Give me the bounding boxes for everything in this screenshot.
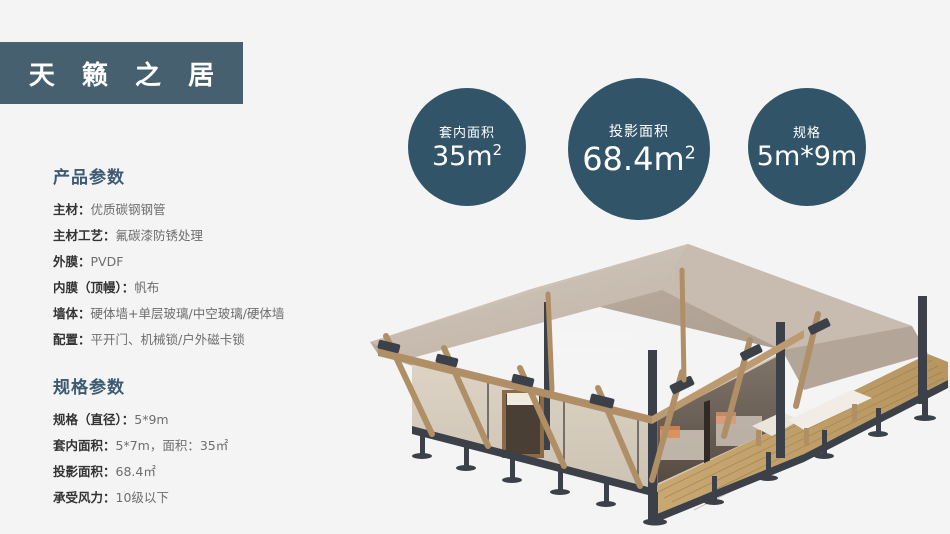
badge-specification: 规格 5m*9m — [748, 88, 866, 206]
spec-value: 优质碳钢钢管 — [91, 202, 166, 217]
spec-value: 5*7m，面积：35㎡ — [116, 438, 229, 453]
badge-label: 投影面积 — [609, 121, 669, 141]
badge-label: 套内面积 — [439, 122, 495, 141]
spec-label: 套内面积： — [53, 438, 116, 453]
spec-row: 投影面积：68.4㎡ — [53, 459, 383, 485]
spec-label: 承受风力： — [53, 490, 116, 505]
badge-interior-area: 套内面积 35m2 — [408, 88, 526, 206]
spec-value: 68.4㎡ — [116, 464, 156, 479]
spec-row: 主材工艺：氟碳漆防锈处理 — [53, 223, 383, 249]
spec-label: 投影面积： — [53, 464, 116, 479]
spec-label: 内膜（顶幔）： — [53, 280, 134, 295]
badge-label: 规格 — [793, 122, 821, 141]
spec-value: 5*9m — [134, 412, 168, 427]
spec-label: 主材工艺： — [53, 228, 116, 243]
spec-value: 硬体墙+单层玻璃/中空玻璃/硬体墙 — [91, 306, 285, 321]
spec-row: 规格（直径）：5*9m — [53, 407, 383, 433]
section-heading-product: 产品参数 — [53, 163, 383, 188]
spec-panel: 产品参数 主材：优质碳钢钢管 主材工艺：氟碳漆防锈处理 外膜：PVDF 内膜（顶… — [53, 163, 383, 511]
spec-value: 10级以下 — [116, 490, 169, 505]
spec-label: 外膜： — [53, 254, 91, 269]
slide-canvas: 天 籁 之 居 产品参数 主材：优质碳钢钢管 主材工艺：氟碳漆防锈处理 外膜：P… — [0, 0, 950, 534]
spec-label: 主材： — [53, 202, 91, 217]
spec-row: 套内面积：5*7m，面积：35㎡ — [53, 433, 383, 459]
spec-label: 规格（直径）： — [53, 412, 134, 427]
spec-value: PVDF — [91, 254, 124, 269]
title-block: 天 籁 之 居 — [0, 42, 243, 104]
page-title: 天 籁 之 居 — [20, 55, 223, 92]
spec-value: 帆布 — [134, 280, 159, 295]
spec-row: 主材：优质碳钢钢管 — [53, 197, 383, 223]
spec-row: 墙体：硬体墙+单层玻璃/中空玻璃/硬体墙 — [53, 301, 383, 327]
badge-value: 35m2 — [432, 143, 502, 171]
spec-value: 平开门、机械锁/户外磁卡锁 — [91, 332, 245, 347]
tent-house-render — [352, 230, 950, 534]
spec-label: 墙体： — [53, 306, 91, 321]
spec-row: 承受风力：10级以下 — [53, 485, 383, 511]
spec-row: 内膜（顶幔）：帆布 — [53, 275, 383, 301]
glass-divider — [704, 400, 710, 464]
badge-value: 5m*9m — [757, 143, 857, 171]
badge-projected-area: 投影面积 68.4m2 — [568, 78, 710, 220]
spec-label: 配置： — [53, 332, 91, 347]
section-heading-specification: 规格参数 — [53, 373, 383, 398]
spec-row: 外膜：PVDF — [53, 249, 383, 275]
spec-value: 氟碳漆防锈处理 — [116, 228, 204, 243]
badge-value: 68.4m2 — [582, 143, 696, 177]
spec-row: 配置：平开门、机械锁/户外磁卡锁 — [53, 327, 383, 353]
